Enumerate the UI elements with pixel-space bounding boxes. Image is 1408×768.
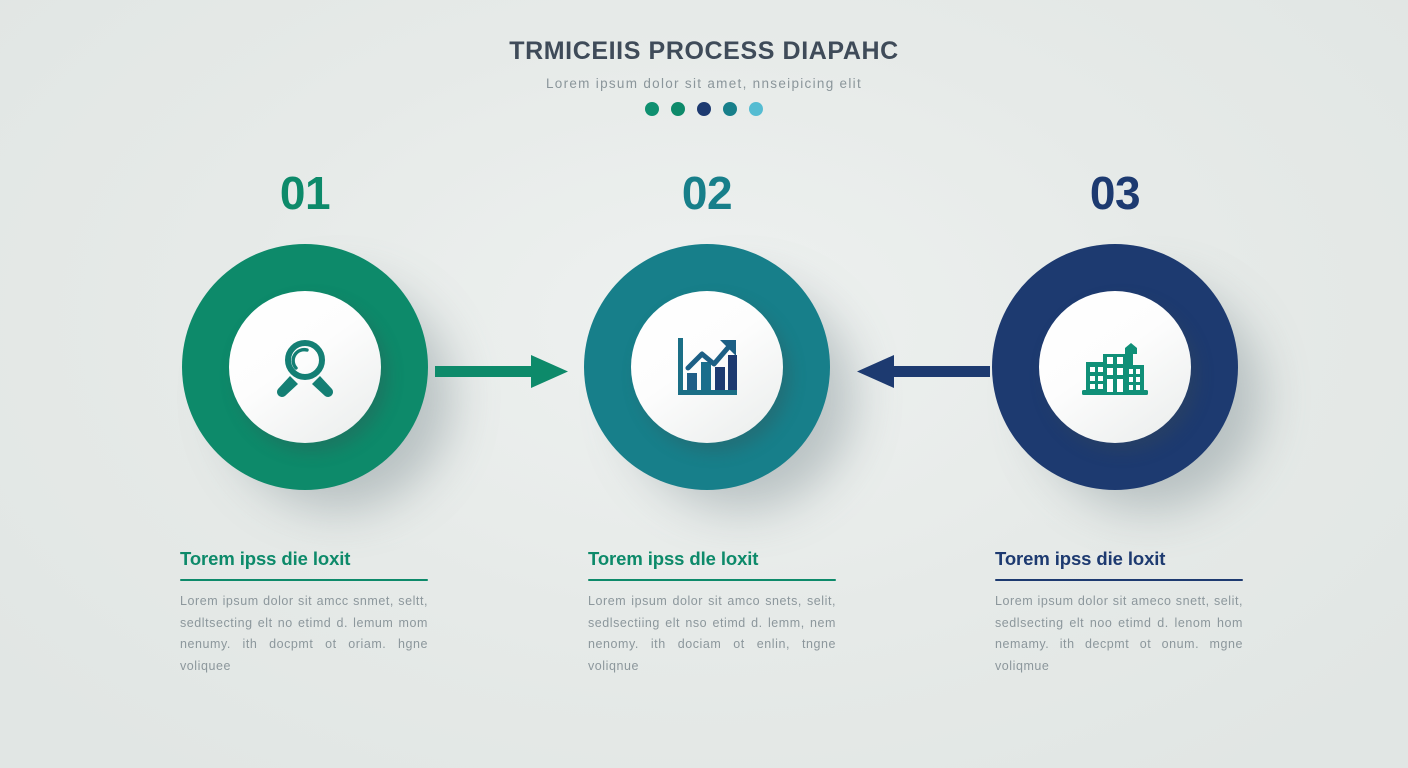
header: TRMICEIIS PROCESS DIAPAHC Lorem ipsum do… — [0, 38, 1408, 116]
caption-1-title: Torem ipss die loxit — [180, 548, 428, 570]
caption-1-body: Lorem ipsum dolor sit amcc snmet, seltt,… — [180, 591, 428, 677]
caption-step-1: Torem ipss die loxit Lorem ipsum dolor s… — [180, 548, 428, 677]
caption-2-title: Torem ipss dle loxit — [588, 548, 836, 570]
office-buildings-icon — [1078, 332, 1152, 402]
caption-2-rule — [588, 579, 836, 581]
step-3-inner-circle — [1039, 291, 1191, 443]
arrow-step1-to-step2 — [435, 352, 575, 392]
caption-1-rule — [180, 579, 428, 581]
step-2-inner-circle — [631, 291, 783, 443]
step-1-inner-circle — [229, 291, 381, 443]
arrow-step3-to-step2 — [850, 352, 990, 392]
caption-2-body: Lorem ipsum dolor sit amco snets, selit,… — [588, 591, 836, 677]
bar-chart-growth-icon — [670, 332, 744, 402]
decorative-dot-row — [0, 102, 1408, 116]
dot-4-icon — [723, 102, 737, 116]
step-3-badge[interactable] — [992, 244, 1238, 490]
step-captions: Torem ipss die loxit Lorem ipsum dolor s… — [0, 548, 1408, 708]
caption-step-2: Torem ipss dle loxit Lorem ipsum dolor s… — [588, 548, 836, 677]
caption-3-title: Torem ipss die loxit — [995, 548, 1243, 570]
dot-5-icon — [749, 102, 763, 116]
process-step-3[interactable]: 03 — [965, 170, 1265, 490]
infographic-canvas: TRMICEIIS PROCESS DIAPAHC Lorem ipsum do… — [0, 0, 1408, 768]
caption-3-body: Lorem ipsum dolor sit ameco snett, selit… — [995, 591, 1243, 677]
step-1-badge[interactable] — [182, 244, 428, 490]
dot-2-icon — [671, 102, 685, 116]
step-3-number: 03 — [965, 170, 1265, 226]
step-2-badge[interactable] — [584, 244, 830, 490]
caption-step-3: Torem ipss die loxit Lorem ipsum dolor s… — [995, 548, 1243, 677]
magnifier-icon — [268, 332, 342, 402]
step-1-number: 01 — [155, 170, 455, 226]
dot-1-icon — [645, 102, 659, 116]
page-title: TRMICEIIS PROCESS DIAPAHC — [0, 38, 1408, 66]
dot-3-icon — [697, 102, 711, 116]
process-step-1[interactable]: 01 — [155, 170, 455, 490]
step-2-number: 02 — [557, 170, 857, 226]
page-subtitle: Lorem ipsum dolor sit amet, nnseipicing … — [0, 76, 1408, 91]
caption-3-rule — [995, 579, 1243, 581]
process-step-2[interactable]: 02 — [557, 170, 857, 490]
process-steps: 01 02 — [0, 170, 1408, 500]
